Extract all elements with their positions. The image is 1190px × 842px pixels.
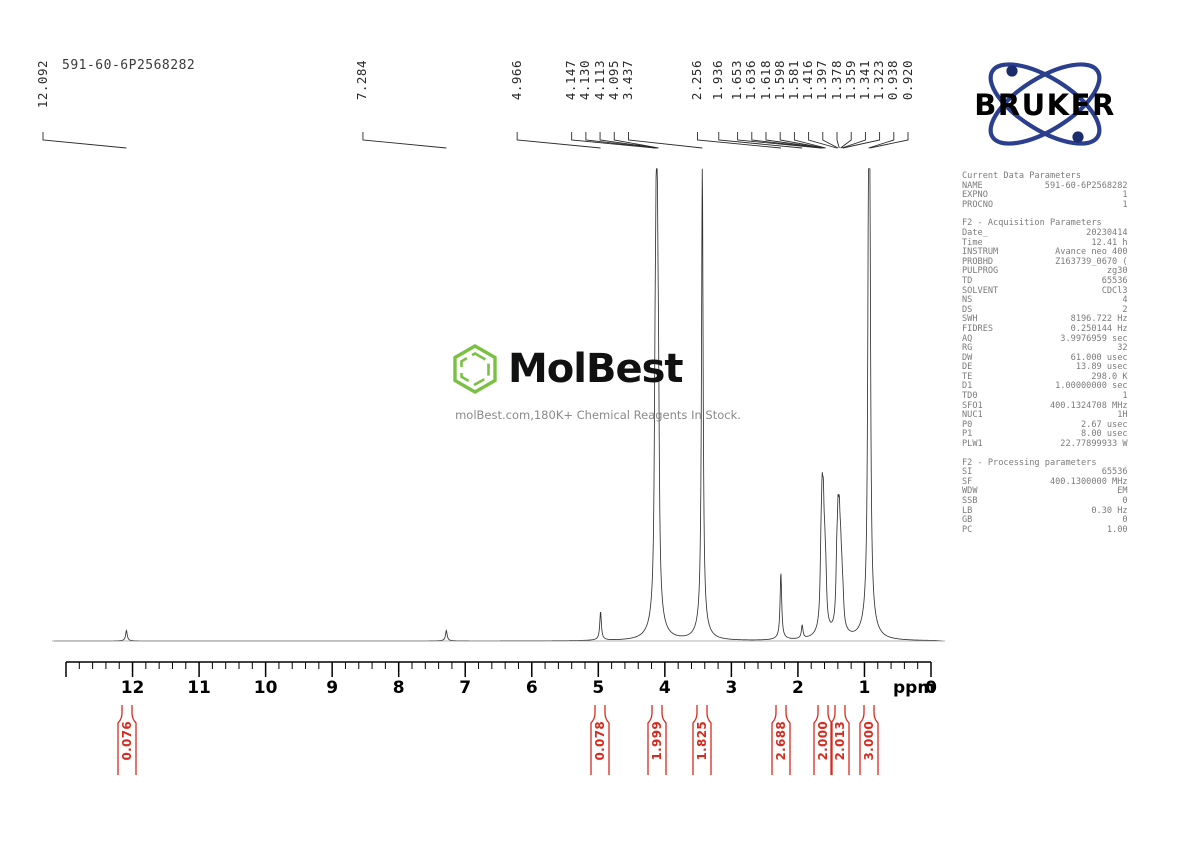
axis-tick-9: 9 — [326, 678, 338, 698]
param-plw1: PLW1 22.77899933 W — [962, 440, 1132, 450]
integral-value: 3.000 — [862, 721, 876, 760]
integral-value: 2.688 — [774, 721, 788, 760]
axis-tick-10: 10 — [254, 678, 278, 698]
param-pc: PC 1.00 — [962, 526, 1132, 536]
bruker-wordmark: BRUKER — [974, 88, 1116, 122]
axis-tick-12: 12 — [121, 678, 145, 698]
orbit-node-bottom — [1072, 131, 1083, 142]
axis-tick-11: 11 — [187, 678, 211, 698]
molbest-wordmark: MolBest — [508, 349, 683, 389]
axis-tick-3: 3 — [725, 678, 737, 698]
integral-value: 2.013 — [833, 721, 847, 760]
molbest-tagline: molBest.com,180K+ Chemical Reagents In S… — [448, 408, 748, 422]
acquisition-parameter-panel: Current Data ParametersNAME 591-60-6P256… — [962, 172, 1132, 535]
peak-connector — [43, 132, 126, 148]
axis-tick-6: 6 — [526, 678, 538, 698]
param-procno: PROCNO 1 — [962, 201, 1132, 211]
integral-mark[interactable]: 2.013 — [829, 705, 851, 777]
integral-mark[interactable]: 0.078 — [589, 705, 611, 777]
integral-value: 0.078 — [593, 721, 607, 760]
integral-value: 1.999 — [650, 721, 664, 760]
integral-mark[interactable]: 1.825 — [691, 705, 713, 777]
integral-row[interactable]: 0.0760.0781.9991.8252.6882.0002.0133.000 — [0, 705, 1190, 795]
molbest-watermark: MolBest molBest.com,180K+ Chemical Reage… — [448, 342, 748, 422]
integral-mark[interactable]: 1.999 — [646, 705, 668, 777]
peak-connector — [823, 132, 838, 148]
axis-tick-4: 4 — [659, 678, 671, 698]
integral-mark[interactable]: 3.000 — [858, 705, 880, 777]
bruker-logo: BRUKER — [960, 52, 1130, 157]
integral-value: 0.076 — [120, 721, 134, 760]
axis-tick-1: 1 — [859, 678, 871, 698]
hexagon-logo-icon — [448, 342, 502, 396]
integral-mark[interactable]: 0.076 — [116, 705, 138, 777]
integral-value: 1.825 — [695, 721, 709, 760]
axis-tick-5: 5 — [592, 678, 604, 698]
axis-tick-8: 8 — [393, 678, 405, 698]
integral-mark[interactable]: 2.688 — [770, 705, 792, 777]
peak-connector — [837, 132, 839, 148]
axis-tick-2: 2 — [792, 678, 804, 698]
orbit-node-top — [1006, 65, 1017, 76]
axis-unit-label: ppm — [893, 678, 935, 698]
axis-tick-7: 7 — [459, 678, 471, 698]
peak-connector — [363, 132, 446, 148]
